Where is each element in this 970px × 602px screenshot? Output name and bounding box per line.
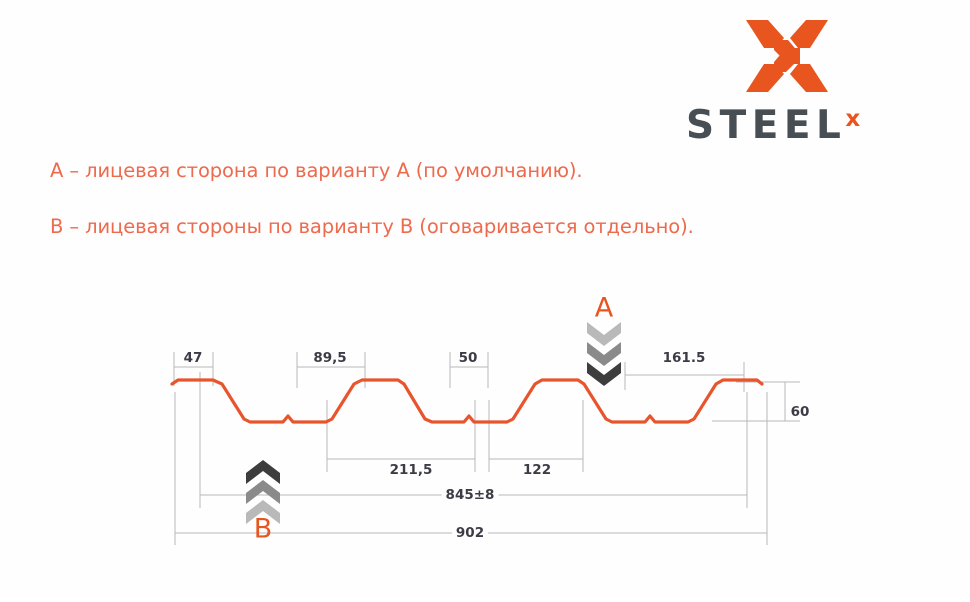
marker-a-chevrons [587,322,621,386]
dim-label-122: 122 [519,462,555,478]
profile-technical-drawing: 47 89,5 50 161.5 60 211,5 122 845±8 902 … [0,0,970,597]
drawing-svg [0,0,970,597]
dim-label-60: 60 [787,404,814,420]
dim-label-211-5: 211,5 [386,462,437,478]
dim-label-902: 902 [452,525,488,541]
dim-label-47: 47 [180,350,207,366]
dim-label-89-5: 89,5 [309,350,350,366]
dim-label-161-5: 161.5 [659,350,710,366]
profile-polyline [172,380,762,422]
marker-a-letter: A [595,293,613,324]
dim-label-50: 50 [455,350,482,366]
dim-label-845-8: 845±8 [442,487,499,503]
marker-b-letter: B [254,514,273,545]
